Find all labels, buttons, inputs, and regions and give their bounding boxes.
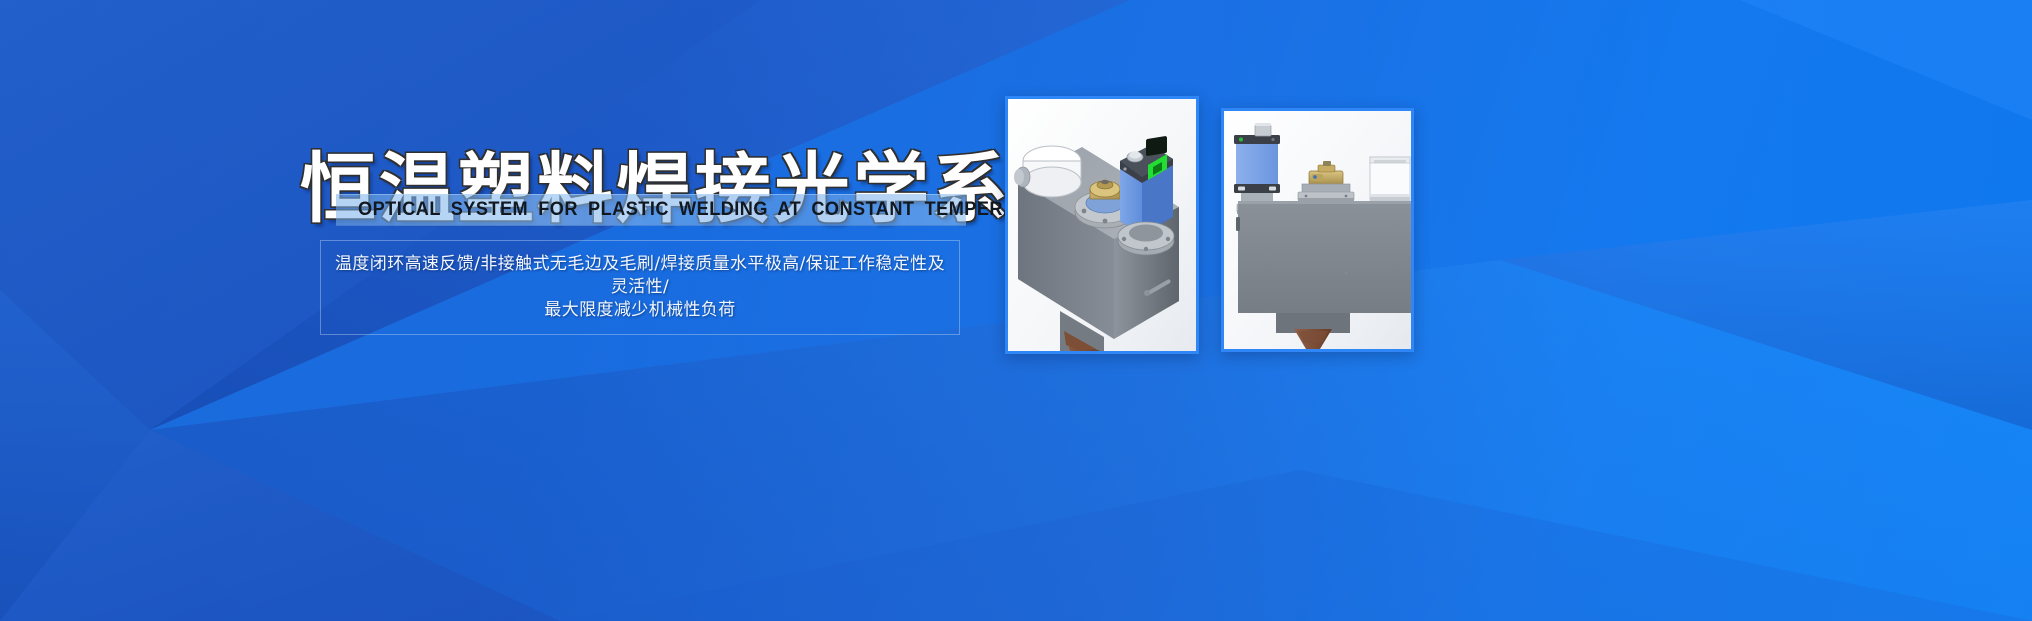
product-image-isometric — [1005, 96, 1199, 354]
feature-line-2: 最大限度减少机械性负荷 — [331, 299, 949, 322]
feature-list-box: 温度闭环高速反馈/非接触式无毛边及毛刷/焊接质量水平极高/保证工作稳定性及灵活性… — [320, 240, 960, 335]
product-image-group — [1005, 92, 1410, 352]
product-banner: 恒温塑料焊接光学系统 OPTICAL SYSTEM FOR PLASTIC WE… — [0, 0, 2032, 621]
subtitle-english: OPTICAL SYSTEM FOR PLASTIC WELDING AT CO… — [358, 194, 944, 224]
product-image-front — [1221, 108, 1414, 352]
feature-line-1: 温度闭环高速反馈/非接触式无毛边及毛刷/焊接质量水平极高/保证工作稳定性及灵活性… — [331, 253, 949, 299]
headline-group: 恒温塑料焊接光学系统 OPTICAL SYSTEM FOR PLASTIC WE… — [300, 150, 1000, 350]
